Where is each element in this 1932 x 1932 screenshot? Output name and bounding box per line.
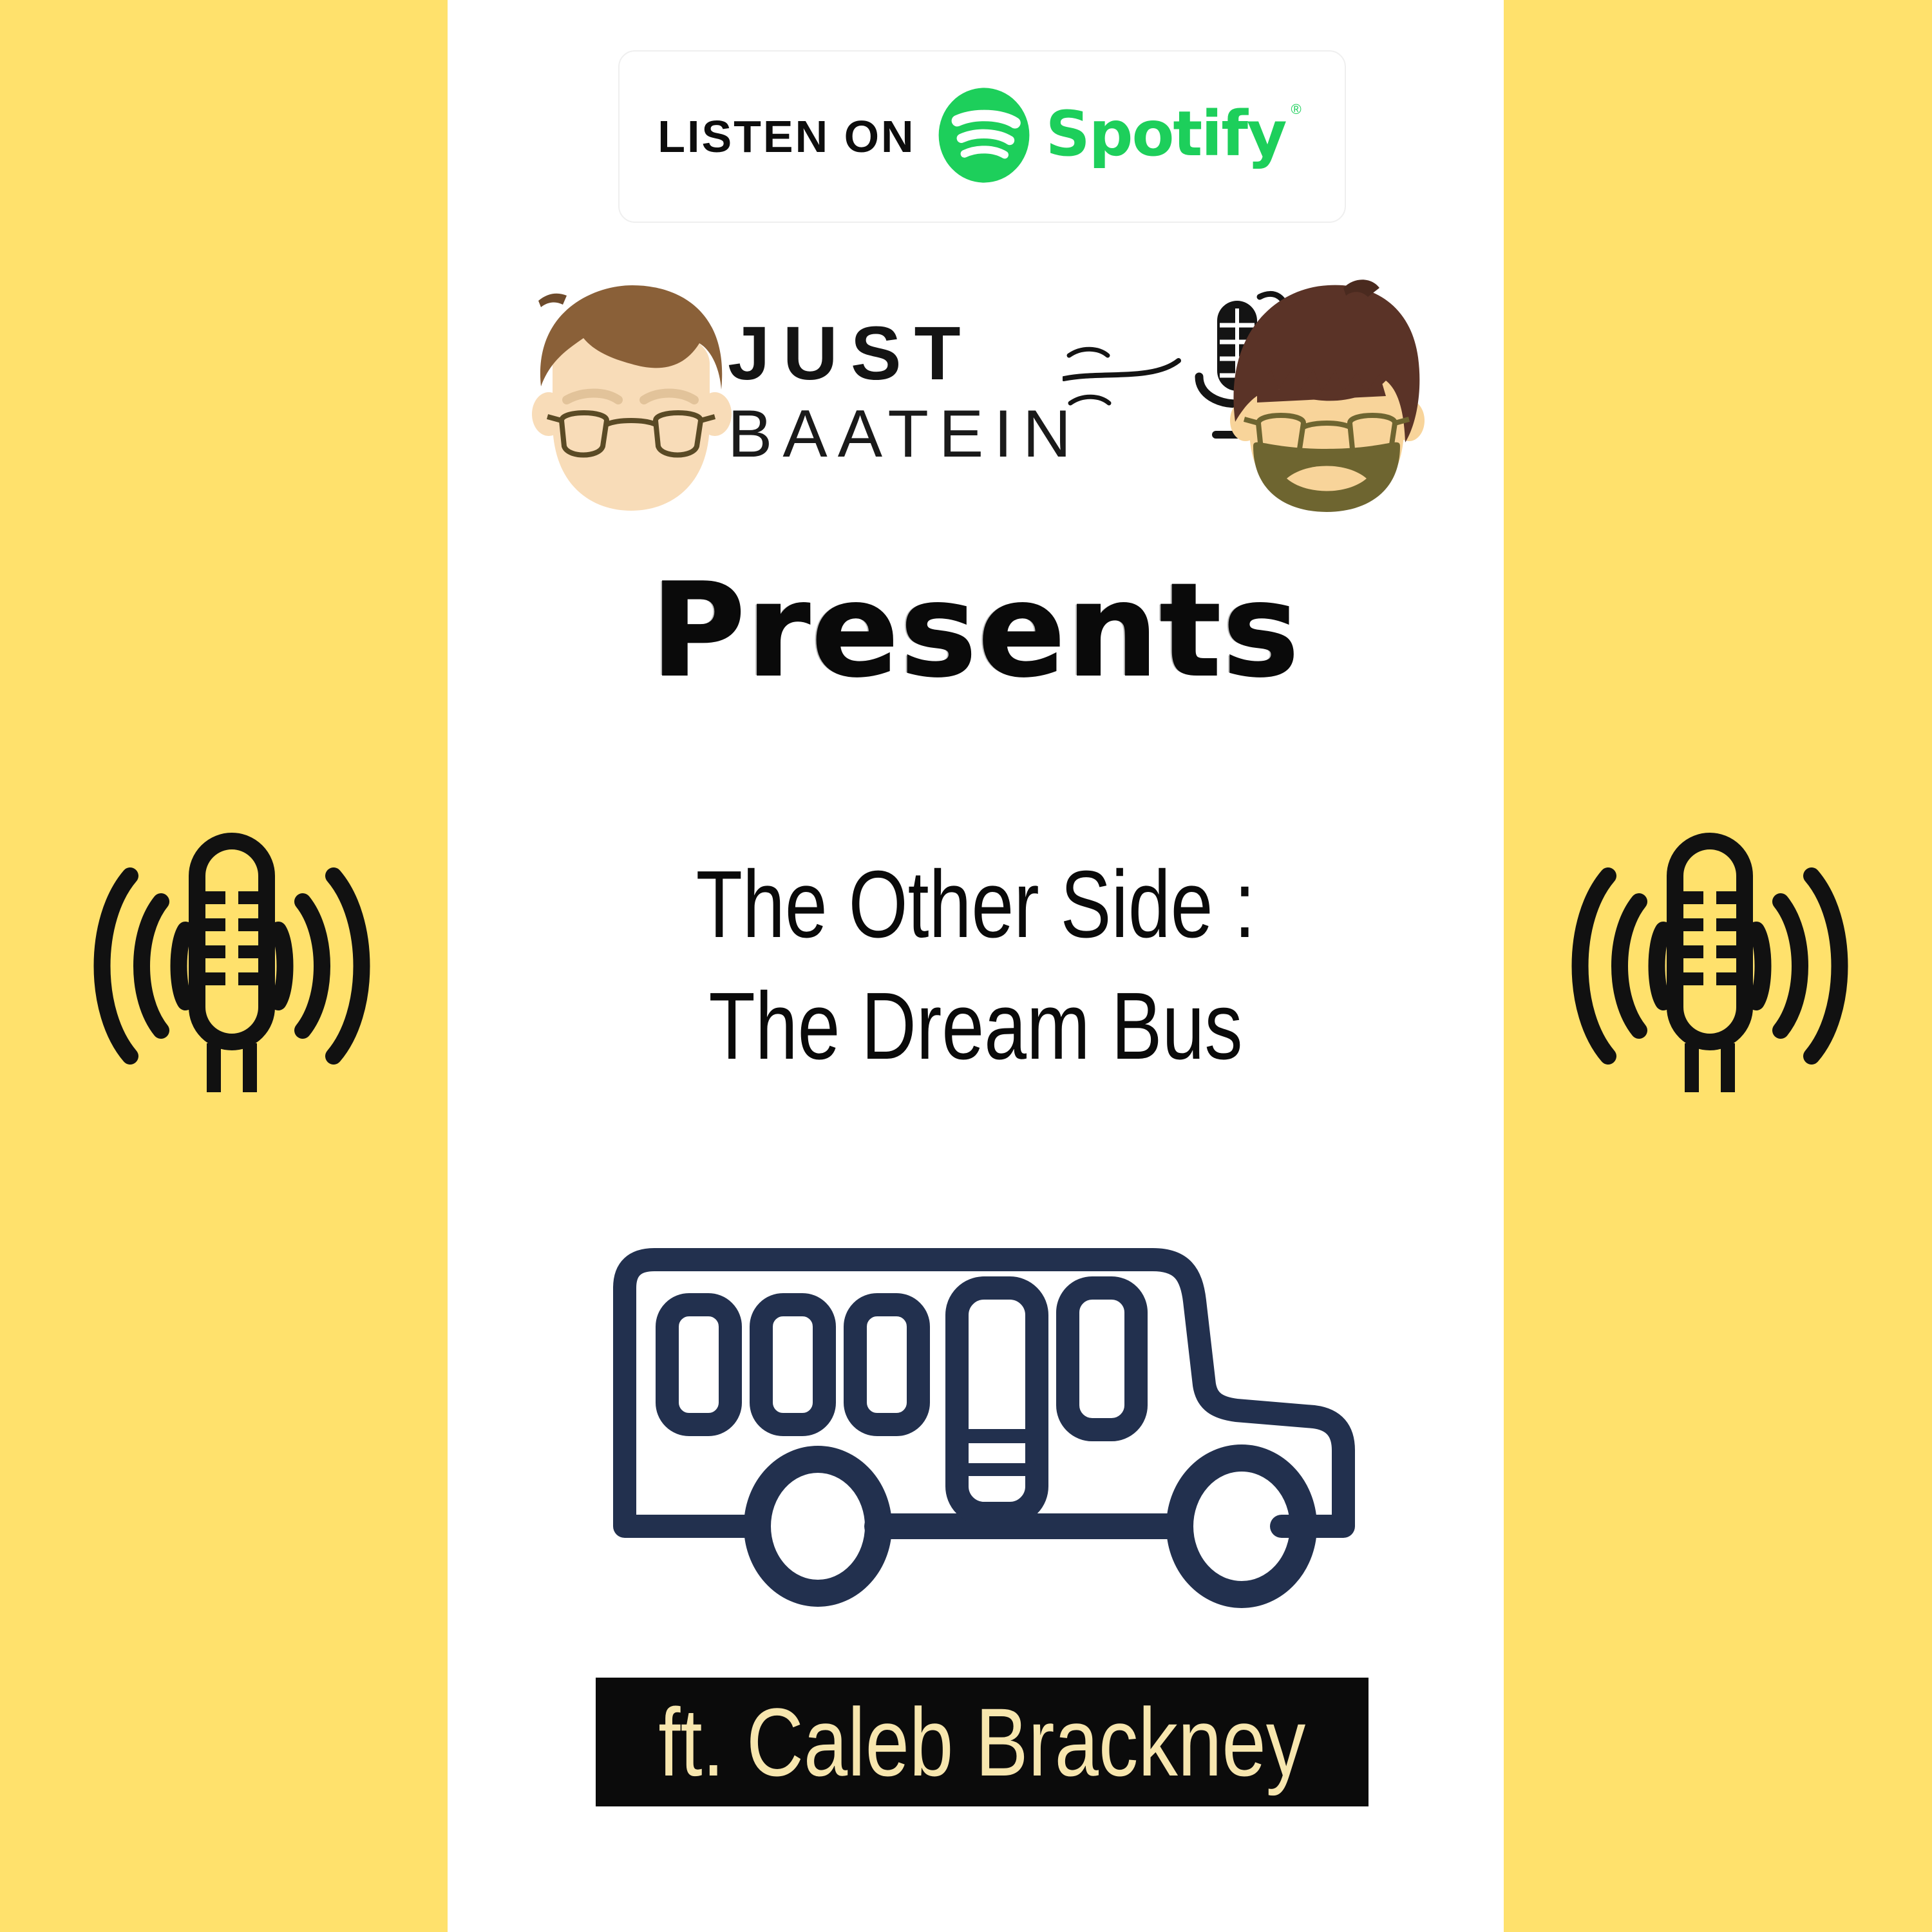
- podcast-cover-art: LISTEN ON Spotify ®: [0, 0, 1932, 1932]
- sound-wave-icon: [1063, 341, 1185, 422]
- right-host-avatar: [1217, 274, 1436, 512]
- listen-on-label: LISTEN ON: [658, 111, 915, 162]
- school-bus-icon: [599, 1224, 1372, 1636]
- spotify-lockup: Spotify ®: [933, 84, 1307, 190]
- listen-on-spotify-badge[interactable]: LISTEN ON Spotify ®: [618, 50, 1346, 223]
- spotify-icon: [933, 84, 1036, 190]
- episode-title: The Other Side : The Dream Bus: [553, 844, 1398, 1088]
- presents-heading: Presents: [448, 567, 1504, 696]
- spotify-wordmark: Spotify: [1046, 98, 1286, 170]
- guest-credit-text: ft. Caleb Brackney: [659, 1694, 1306, 1790]
- just-baatein-logo: JUST BAATEIN: [515, 274, 1436, 512]
- podcast-microphone-icon-right: [1549, 805, 1871, 1127]
- podcast-microphone-icon-left: [71, 805, 393, 1127]
- guest-credit-band: ft. Caleb Brackney: [596, 1678, 1368, 1806]
- left-host-avatar: [522, 274, 741, 512]
- spotify-registered-mark: ®: [1291, 101, 1302, 118]
